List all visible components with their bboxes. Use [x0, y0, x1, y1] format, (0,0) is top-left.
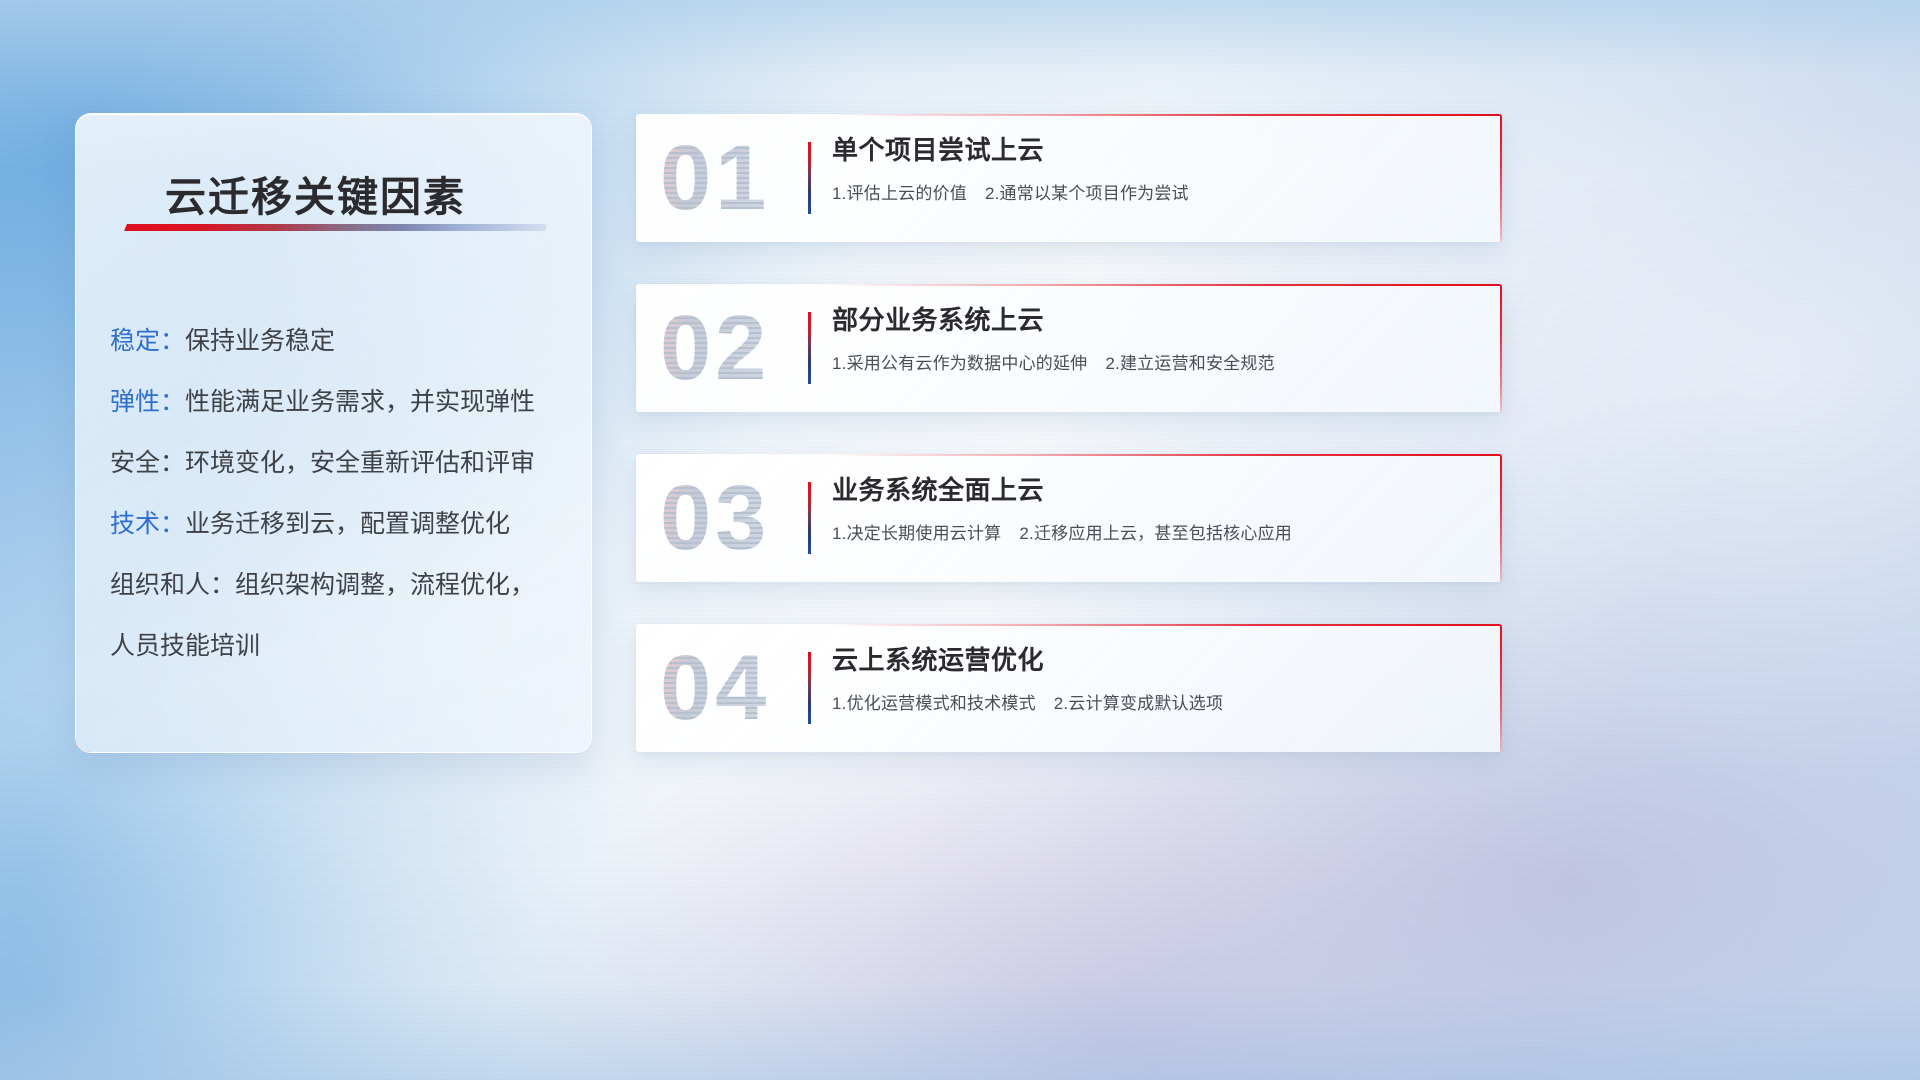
- stage-title: 业务系统全面上云: [832, 474, 1478, 507]
- stage-card-03[interactable]: 03 业务系统全面上云 1.决定长期使用云计算2.迁移应用上云，甚至包括核心应用: [636, 454, 1502, 582]
- factor-value: 环境变化，安全重新评估和评审: [185, 449, 535, 477]
- stage-title: 单个项目尝试上云: [832, 134, 1478, 167]
- factor-value: 性能满足业务需求，并实现弹性: [185, 388, 535, 416]
- card-divider-bar: [808, 312, 811, 384]
- card-text-block: 部分业务系统上云 1.采用公有云作为数据中心的延伸2.建立运营和安全规范: [832, 304, 1478, 374]
- stage-description: 1.采用公有云作为数据中心的延伸2.建立运营和安全规范: [832, 349, 1478, 374]
- stage-title: 云上系统运营优化: [832, 644, 1478, 677]
- card-top-accent-line: [636, 284, 1502, 286]
- stage-item-2: 2.迁移应用上云，甚至包括核心应用: [1019, 524, 1292, 543]
- factor-label: 弹性：: [110, 388, 185, 416]
- page-title: 云迁移关键因素: [165, 163, 466, 223]
- stage-number-01: 01: [660, 132, 770, 224]
- stage-item-1: 1.评估上云的价值: [832, 184, 967, 203]
- slide-canvas: 云迁移关键因素 稳定：保持业务稳定 弹性：性能满足业务需求，并实现弹性 安全：环…: [0, 0, 1920, 1080]
- stage-title: 部分业务系统上云: [832, 304, 1478, 337]
- factor-label: 组织和人：: [110, 571, 235, 599]
- factor-item-elasticity: 弹性：性能满足业务需求，并实现弹性: [110, 372, 580, 433]
- stage-item-2: 2.云计算变成默认选项: [1054, 694, 1223, 713]
- factor-item-organization-cont: 人员技能培训: [110, 616, 580, 677]
- card-text-block: 云上系统运营优化 1.优化运营模式和技术模式2.云计算变成默认选项: [832, 644, 1478, 714]
- stage-number-04: 04: [660, 642, 770, 734]
- card-top-accent-line: [636, 624, 1502, 626]
- card-top-accent-line: [636, 114, 1502, 116]
- key-factors-panel: 云迁移关键因素 稳定：保持业务稳定 弹性：性能满足业务需求，并实现弹性 安全：环…: [75, 113, 592, 753]
- factor-value: 保持业务稳定: [185, 327, 335, 355]
- card-right-accent-line: [1500, 624, 1502, 752]
- card-text-block: 业务系统全面上云 1.决定长期使用云计算2.迁移应用上云，甚至包括核心应用: [832, 474, 1478, 544]
- stage-number-03: 03: [660, 472, 770, 564]
- stage-item-1: 1.采用公有云作为数据中心的延伸: [832, 354, 1087, 373]
- factor-label: 技术：: [110, 510, 185, 538]
- stage-card-01[interactable]: 01 单个项目尝试上云 1.评估上云的价值2.通常以某个项目作为尝试: [636, 114, 1502, 242]
- card-text-block: 单个项目尝试上云 1.评估上云的价值2.通常以某个项目作为尝试: [832, 134, 1478, 204]
- factor-item-stability: 稳定：保持业务稳定: [110, 311, 580, 372]
- stage-description: 1.优化运营模式和技术模式2.云计算变成默认选项: [832, 689, 1478, 714]
- card-divider-bar: [808, 652, 811, 724]
- migration-stages-list: 01 单个项目尝试上云 1.评估上云的价值2.通常以某个项目作为尝试 02 部分…: [636, 114, 1502, 752]
- factor-value: 组织架构调整，流程优化，: [235, 571, 535, 599]
- card-divider-bar: [808, 142, 811, 214]
- factor-label: 稳定：: [110, 327, 185, 355]
- factor-item-technology: 技术：业务迁移到云，配置调整优化: [110, 494, 580, 555]
- factor-value: 业务迁移到云，配置调整优化: [185, 510, 510, 538]
- factor-label: 安全：: [110, 449, 185, 477]
- card-right-accent-line: [1500, 114, 1502, 242]
- card-right-accent-line: [1500, 284, 1502, 412]
- stage-number-02: 02: [660, 302, 770, 394]
- stage-description: 1.决定长期使用云计算2.迁移应用上云，甚至包括核心应用: [832, 519, 1478, 544]
- stage-item-2: 2.建立运营和安全规范: [1105, 354, 1274, 373]
- factor-item-organization: 组织和人：组织架构调整，流程优化，: [110, 555, 580, 616]
- stage-card-02[interactable]: 02 部分业务系统上云 1.采用公有云作为数据中心的延伸2.建立运营和安全规范: [636, 284, 1502, 412]
- stage-description: 1.评估上云的价值2.通常以某个项目作为尝试: [832, 179, 1478, 204]
- stage-item-1: 1.决定长期使用云计算: [832, 524, 1001, 543]
- stage-item-2: 2.通常以某个项目作为尝试: [985, 184, 1189, 203]
- factor-item-security: 安全：环境变化，安全重新评估和评审: [110, 433, 580, 494]
- card-right-accent-line: [1500, 454, 1502, 582]
- title-underline-rule: [124, 224, 546, 231]
- stage-card-04[interactable]: 04 云上系统运营优化 1.优化运营模式和技术模式2.云计算变成默认选项: [636, 624, 1502, 752]
- stage-item-1: 1.优化运营模式和技术模式: [832, 694, 1036, 713]
- key-factors-list: 稳定：保持业务稳定 弹性：性能满足业务需求，并实现弹性 安全：环境变化，安全重新…: [110, 311, 580, 677]
- slide-content: 云迁移关键因素 稳定：保持业务稳定 弹性：性能满足业务需求，并实现弹性 安全：环…: [0, 0, 1920, 1080]
- factor-value: 人员技能培训: [110, 632, 260, 660]
- card-top-accent-line: [636, 454, 1502, 456]
- card-divider-bar: [808, 482, 811, 554]
